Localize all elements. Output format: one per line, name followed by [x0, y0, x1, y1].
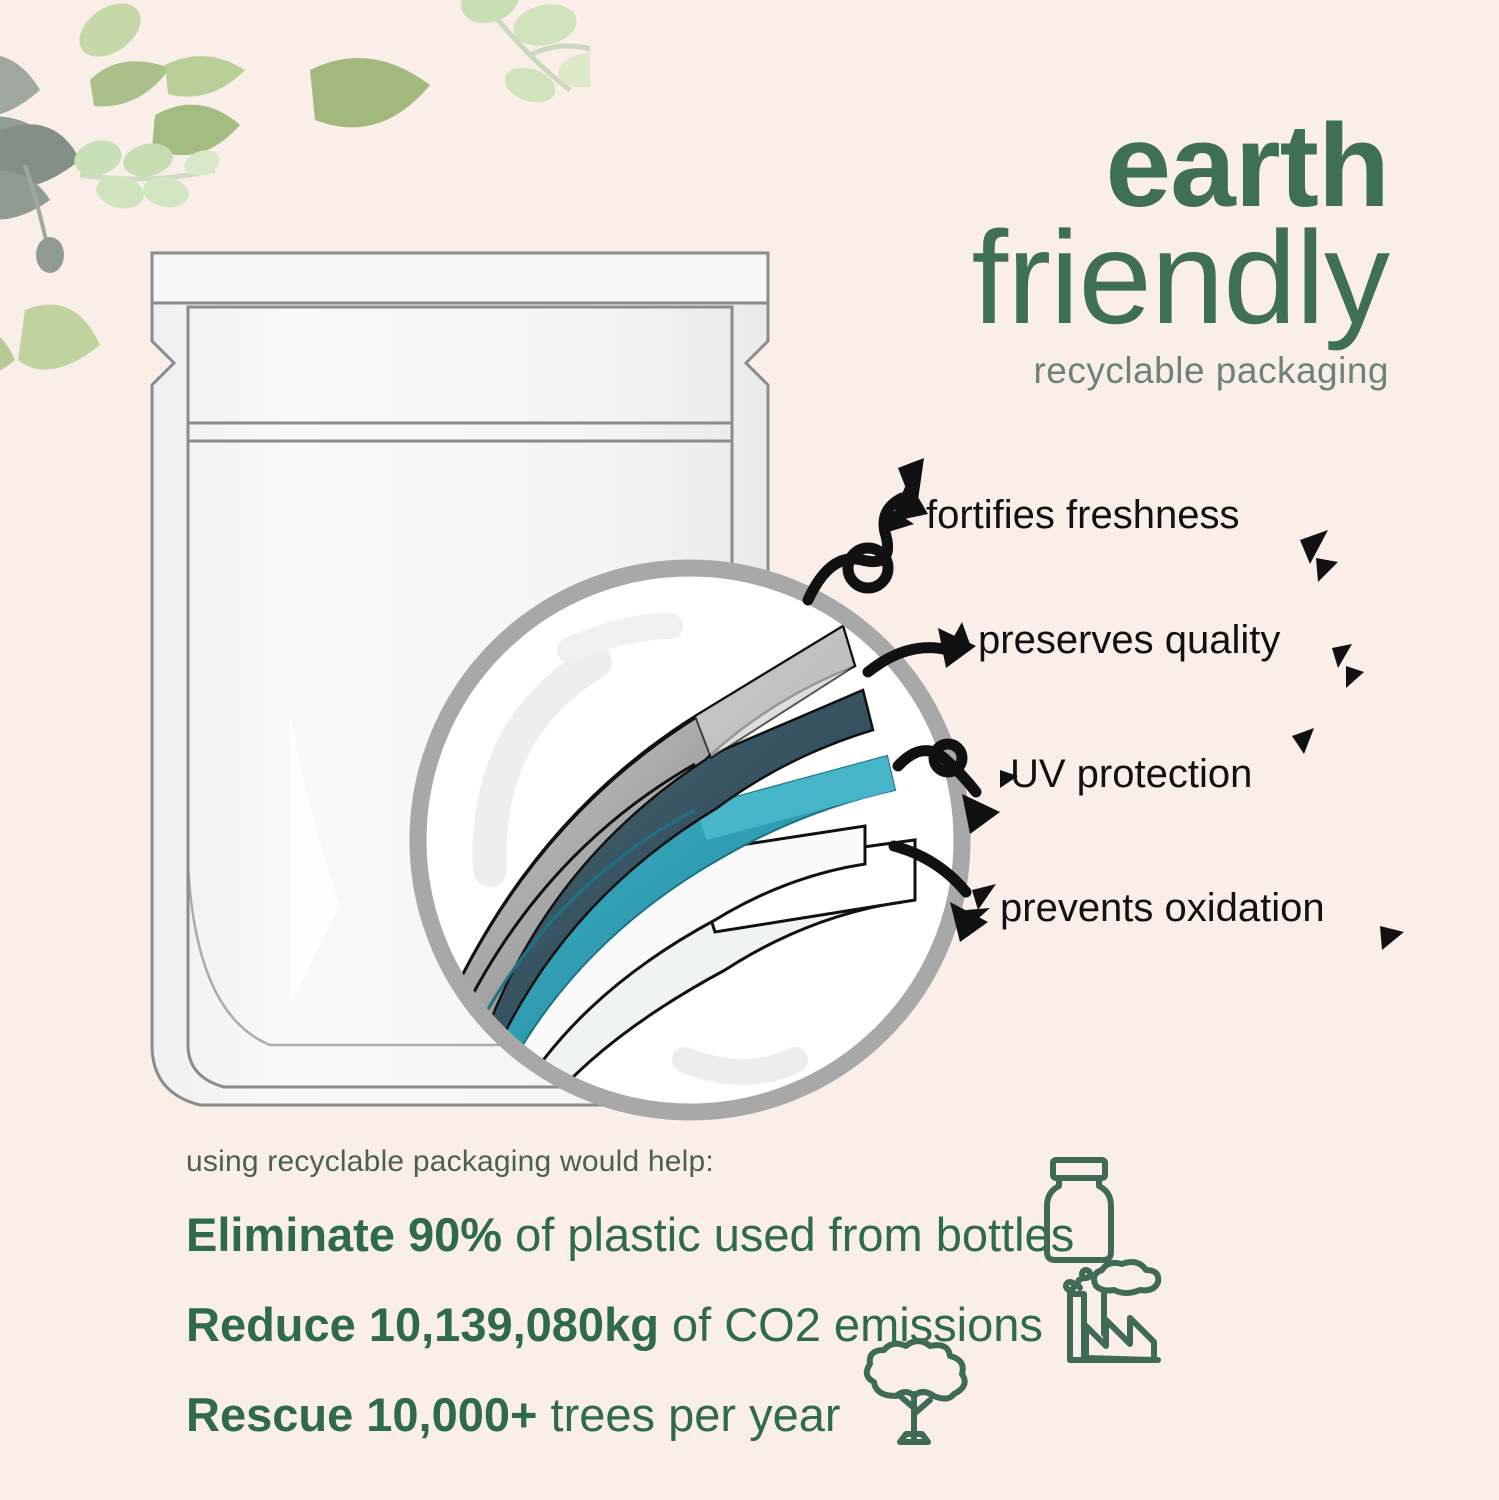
stat-row-eliminate: Eliminate 90% of plastic used from bottl… [186, 1207, 1074, 1262]
bottle-icon [1035, 1152, 1131, 1268]
stat-rest: trees per year [551, 1388, 841, 1441]
feature-label-uv-protection: UV protection [1010, 752, 1252, 797]
stat-rest: of plastic used from bottles [515, 1208, 1074, 1261]
feature-label-prevents-oxidation: prevents oxidation [1000, 886, 1325, 931]
stat-value: 10,139,080kg [369, 1298, 659, 1351]
stats-intro: using recyclable packaging would help: [186, 1145, 714, 1179]
stat-verb: Reduce [186, 1298, 356, 1351]
factory-icon [1058, 1258, 1176, 1366]
stat-verb: Eliminate [186, 1208, 395, 1261]
stat-value: 90% [408, 1208, 502, 1261]
feature-label-fortifies-freshness: fortifies freshness [926, 493, 1239, 538]
stat-value: 10,000+ [366, 1388, 537, 1441]
stat-verb: Rescue [186, 1388, 353, 1441]
stat-row-rescue: Rescue 10,000+ trees per year [186, 1387, 841, 1442]
headline-block: earth friendly recyclable packaging [689, 112, 1389, 392]
headline-subtitle: recyclable packaging [689, 350, 1389, 392]
infographic-canvas: fortifies freshness preserves quality UV… [0, 0, 1499, 1500]
feature-label-preserves-quality: preserves quality [978, 618, 1280, 663]
headline-line-friendly: friendly [689, 215, 1389, 340]
tree-icon [856, 1338, 980, 1466]
